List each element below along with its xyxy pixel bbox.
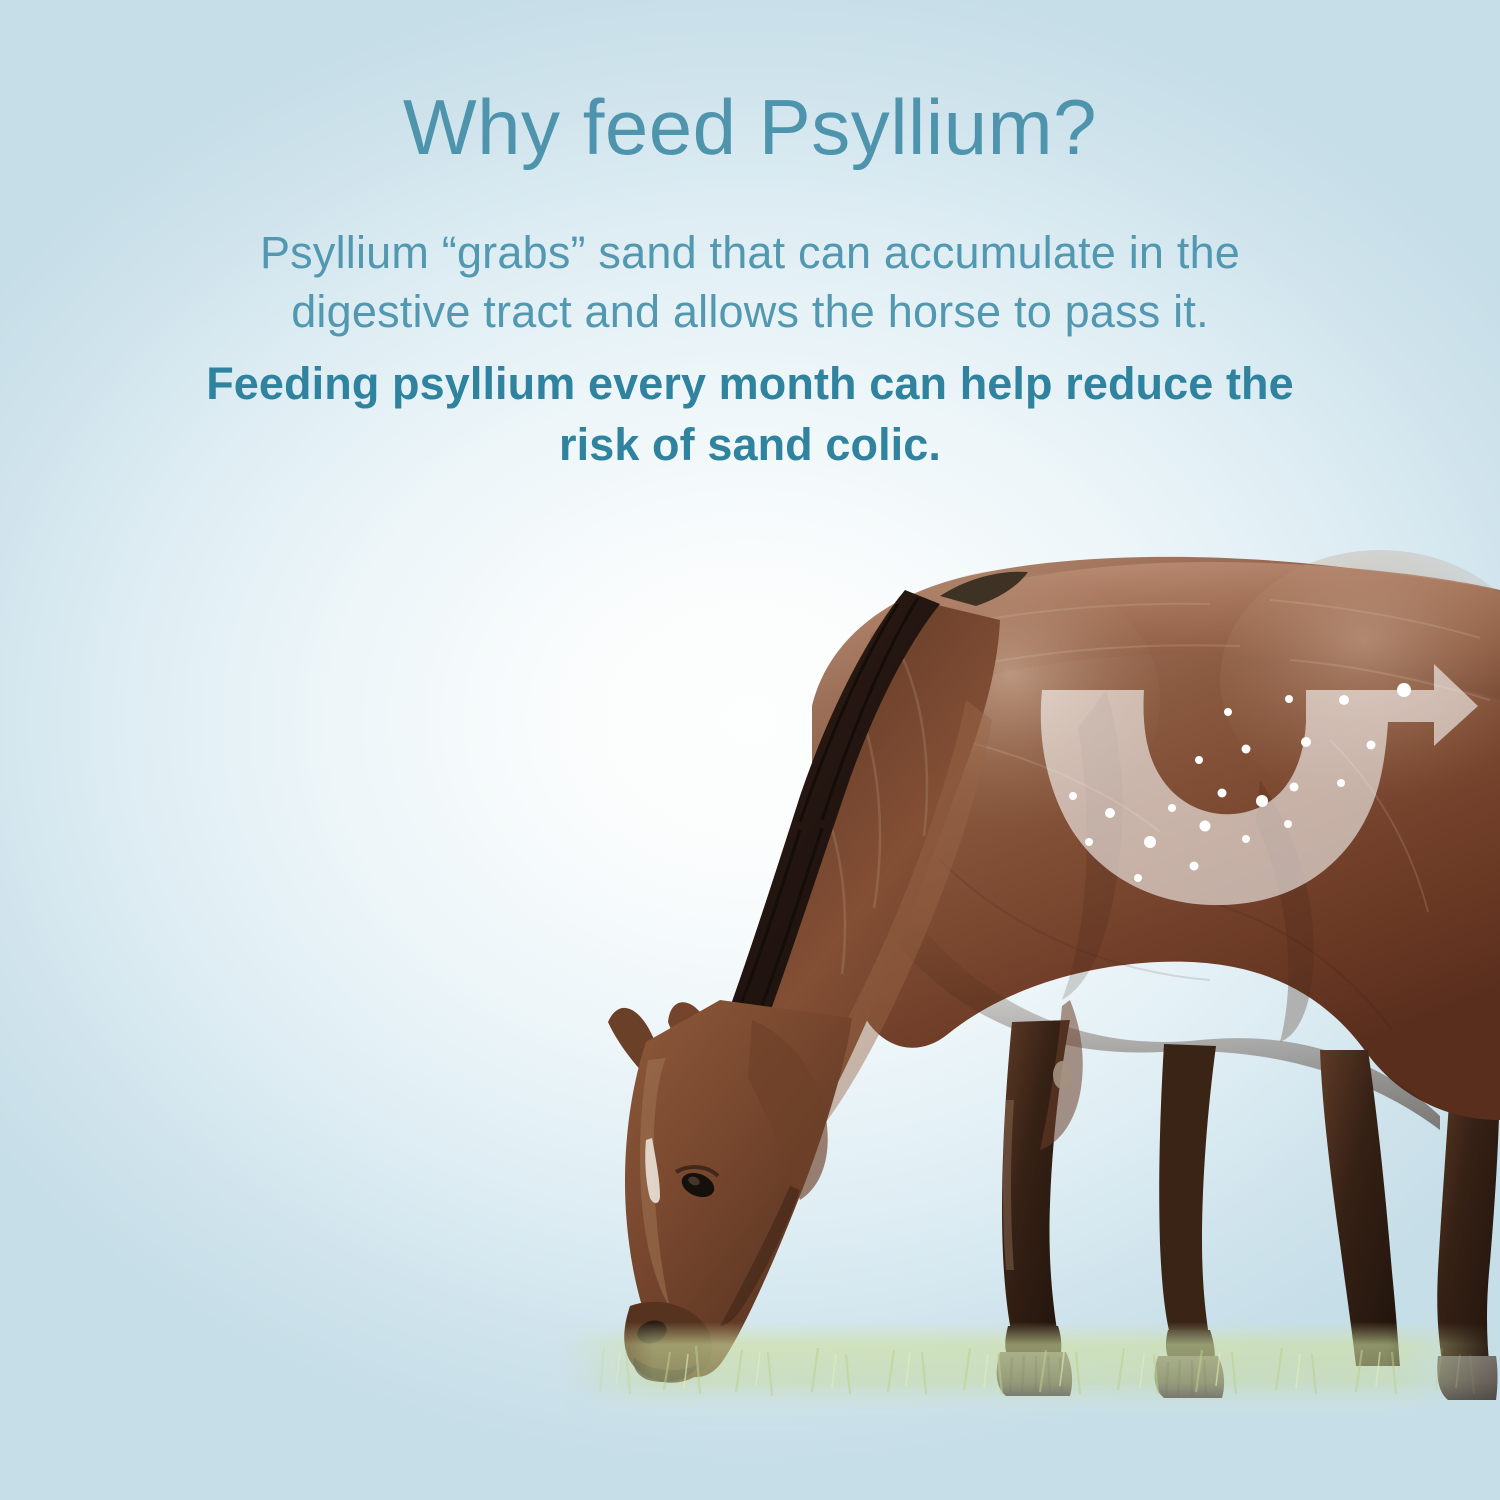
text-block: Why feed Psyllium? Psyllium “grabs” sand… bbox=[0, 0, 1500, 475]
horse-head bbox=[608, 1000, 852, 1383]
hind-leg-near bbox=[1320, 1050, 1400, 1366]
body-line-1: Psyllium “grabs” sand that can accumulat… bbox=[0, 224, 1500, 283]
body-paragraph: Psyllium “grabs” sand that can accumulat… bbox=[0, 166, 1500, 341]
body-line-2: digestive tract and allows the horse to … bbox=[0, 283, 1500, 342]
horse-figure bbox=[608, 550, 1500, 1400]
chestnut-marking bbox=[1053, 1061, 1071, 1089]
emphasis-paragraph: Feeding psyllium every month can help re… bbox=[0, 341, 1500, 475]
front-leg-near bbox=[997, 1000, 1083, 1396]
emphasis-line-1: Feeding psyllium every month can help re… bbox=[0, 353, 1500, 414]
page-title: Why feed Psyllium? bbox=[0, 0, 1500, 166]
poster-canvas: Why feed Psyllium? Psyllium “grabs” sand… bbox=[0, 0, 1500, 1500]
front-leg-far bbox=[1155, 1044, 1224, 1398]
emphasis-line-2: risk of sand colic. bbox=[0, 414, 1500, 475]
